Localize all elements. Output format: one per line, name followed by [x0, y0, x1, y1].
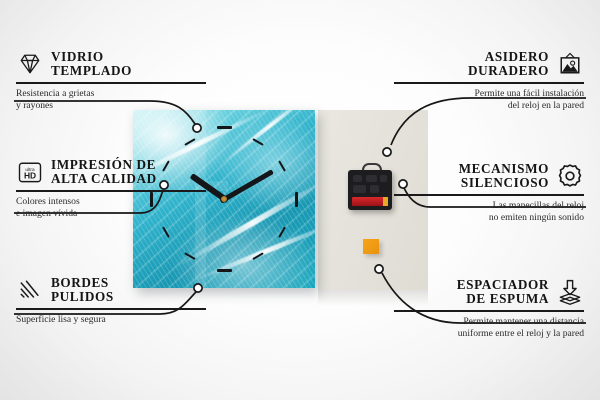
feature-title-line1: IMPRESIÓN DE — [51, 158, 157, 172]
feature-title-line1: ASIDERO — [468, 50, 549, 64]
mechanism-detail — [353, 175, 362, 182]
diamond-icon — [16, 50, 44, 78]
clock-center-hub — [221, 196, 227, 202]
feature-espaciador-de-espuma: ESPACIADOR DE ESPUMA Permite mantener un… — [394, 278, 584, 341]
feature-title-line1: MECANISMO — [459, 162, 549, 176]
feature-description: Permite una fácil instalación del reloj … — [394, 88, 584, 113]
mechanism-detail — [353, 185, 366, 193]
feature-description: Colores intensos e imagen vívida — [16, 196, 206, 221]
clock-mechanism — [348, 170, 392, 210]
feature-description: Resistencia a grietas y rayones — [16, 88, 206, 113]
feature-title-line1: VIDRIO — [51, 50, 132, 64]
feature-title-line2: ALTA CALIDAD — [51, 172, 157, 186]
feature-title-line2: DURADERO — [468, 64, 549, 78]
polished-edges-icon — [16, 276, 44, 304]
feature-description: Las manecillas del reloj no emiten ningú… — [394, 200, 584, 225]
mechanism-battery — [352, 197, 388, 206]
foam-spacer-icon — [556, 278, 584, 306]
feature-rule — [394, 194, 584, 196]
battery-positive-terminal — [383, 197, 388, 206]
picture-frame-icon — [556, 50, 584, 78]
svg-text:HD: HD — [24, 170, 36, 180]
feature-asidero-duradero: ASIDERO DURADERO Permite una fácil insta… — [394, 50, 584, 113]
foam-spacer-piece — [363, 239, 379, 254]
feature-rule — [394, 310, 584, 312]
feature-title-line2: TEMPLADO — [51, 64, 132, 78]
feature-title-line2: PULIDOS — [51, 290, 114, 304]
clock-tick — [295, 192, 298, 207]
ultra-hd-icon: ultra HD — [16, 158, 44, 186]
feature-rule — [16, 82, 206, 84]
mechanism-detail — [370, 185, 379, 193]
mechanism-body — [348, 170, 392, 210]
clock-tick — [217, 126, 232, 129]
feature-rule — [16, 190, 206, 192]
feature-rule — [16, 308, 206, 310]
clock-tick — [217, 269, 232, 272]
infographic-canvas: VIDRIO TEMPLADO Resistencia a grietas y … — [0, 0, 600, 400]
gear-icon — [556, 162, 584, 190]
feature-title-line1: BORDES — [51, 276, 114, 290]
mechanism-detail — [366, 175, 377, 182]
feature-title-line2: SILENCIOSO — [459, 176, 549, 190]
feature-bordes-pulidos: BORDES PULIDOS Superficie lisa y segura — [16, 276, 206, 326]
feature-title-line2: DE ESPUMA — [457, 292, 549, 306]
feature-rule — [394, 82, 584, 84]
feature-vidrio-templado: VIDRIO TEMPLADO Resistencia a grietas y … — [16, 50, 206, 113]
mechanism-detail — [380, 175, 387, 182]
feature-title-line1: ESPACIADOR — [457, 278, 549, 292]
feature-description: Permite mantener una distancia uniforme … — [394, 316, 584, 341]
feature-mecanismo-silencioso: MECANISMO SILENCIOSO Las manecillas del … — [394, 162, 584, 225]
feature-description: Superficie lisa y segura — [16, 314, 206, 327]
feature-impresion-alta-calidad: ultra HD IMPRESIÓN DE ALTA CALIDAD Color… — [16, 158, 206, 221]
